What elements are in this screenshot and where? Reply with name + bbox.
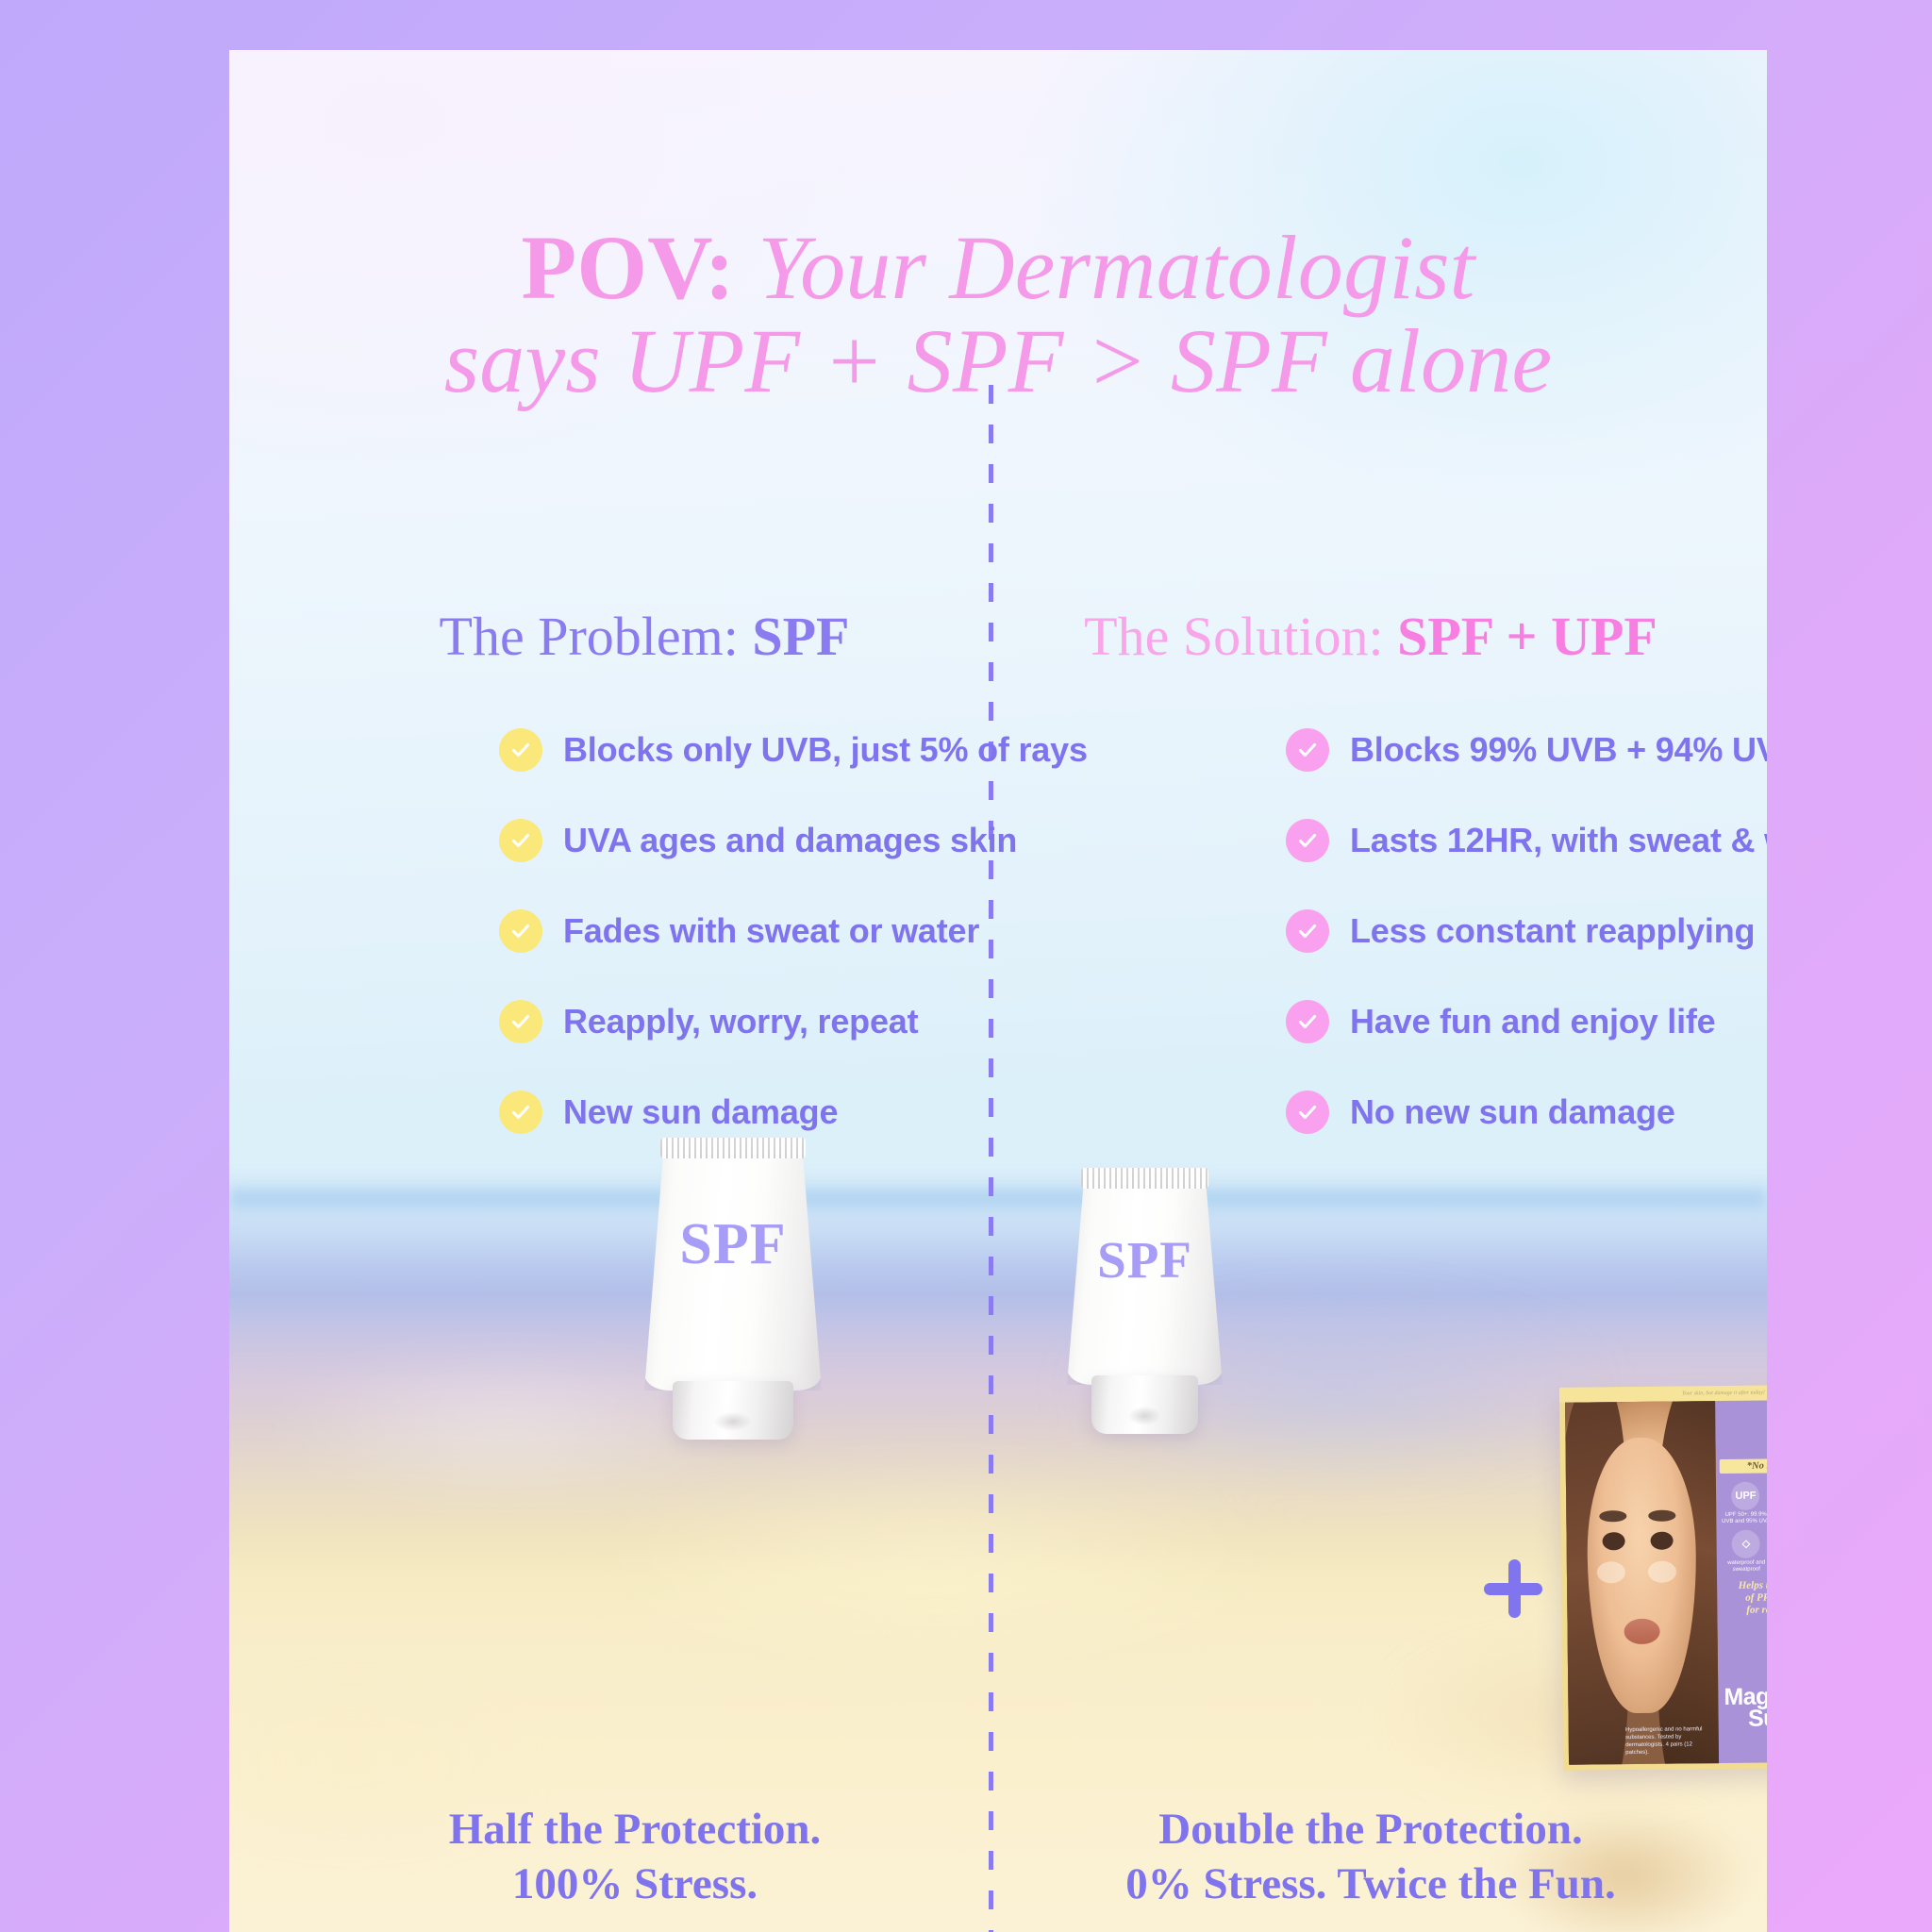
poster-title: POV: Your Dermatologist says UPF + SPF >…: [229, 222, 1767, 408]
sunscreen-tube-left: SPF: [644, 1128, 822, 1440]
list-item-label: Fades with sweat or water: [563, 911, 979, 951]
list-item: Reapply, worry, repeat: [499, 995, 1088, 1048]
no-reapplication-ribbon: *No reapplication needed: [1720, 1457, 1767, 1474]
right-tagline-line-1: Double the Protection.: [1012, 1803, 1729, 1857]
check-icon: [1286, 819, 1329, 862]
brand-logo-line-2: HOT: [1719, 1425, 1767, 1455]
upf-sun-icon: UPF: [1731, 1482, 1759, 1510]
solution-list: Blocks 99% UVB + 94% UVA Lasts 12HR, wit…: [1286, 724, 1767, 1176]
claim-line-3: for radiant, youthful skin: [1721, 1603, 1767, 1617]
list-item: Blocks only UVB, just 5% of rays: [499, 724, 1088, 776]
list-item-label: Blocks only UVB, just 5% of rays: [563, 730, 1088, 770]
list-item: UVA ages and damages skin: [499, 814, 1088, 867]
problem-list: Blocks only UVB, just 5% of rays UVA age…: [499, 724, 1088, 1176]
left-tagline-line-1: Half the Protection.: [286, 1803, 984, 1857]
waterdrop-icon: ◇: [1732, 1529, 1760, 1557]
list-item-label: No new sun damage: [1350, 1092, 1675, 1132]
model-eyebrow-left: [1599, 1510, 1626, 1522]
right-tagline: Double the Protection. 0% Stress. Twice …: [1012, 1803, 1729, 1911]
tube-label: SPF: [1067, 1230, 1223, 1290]
list-item-label: Blocks 99% UVB + 94% UVA: [1350, 730, 1767, 770]
sun-patch-right: [1648, 1560, 1676, 1582]
list-item-label: UVA ages and damages skin: [563, 821, 1017, 860]
title-line-1: POV: Your Dermatologist: [229, 222, 1767, 315]
product-name-line-2: Sun Patches: [1718, 1707, 1767, 1732]
claim-line-2: of PREMATURE AGING: [1721, 1591, 1767, 1605]
box-fineprint: Hypoallergenic and no harmful substances…: [1625, 1725, 1713, 1757]
check-icon: [499, 728, 542, 772]
ocean-horizon-band: [229, 1182, 1767, 1214]
right-column-heading: The Solution: SPF + UPF: [1022, 605, 1720, 668]
list-item-label: Reapply, worry, repeat: [563, 1002, 918, 1041]
title-pov-lead: POV:: [521, 217, 735, 318]
title-line-2: says UPF + SPF > SPF alone: [229, 315, 1767, 408]
tube-crimp: [660, 1138, 806, 1158]
feature-badge: ◇ waterproof and sweatproof: [1720, 1529, 1767, 1574]
tube-crimp: [1081, 1168, 1208, 1189]
check-icon: [1286, 728, 1329, 772]
list-item: No new sun damage: [1286, 1086, 1767, 1139]
brand-logo-line-1: legally: [1719, 1405, 1767, 1427]
tube-cap: [1091, 1375, 1197, 1434]
check-icon: [499, 1091, 542, 1134]
left-column-heading: The Problem: SPF: [314, 605, 974, 668]
sunscreen-tube-right: SPF: [1067, 1158, 1223, 1434]
right-tagline-line-2: 0% Stress. Twice the Fun.: [1012, 1857, 1729, 1911]
box-info-panel: legally HOT *No reapplication needed UPF…: [1715, 1399, 1767, 1763]
box-claim: Helps reduce the appearance of PREMATURE…: [1721, 1578, 1767, 1617]
model-photo: [1565, 1401, 1719, 1765]
feature-caption: UPF 50+: 99.9% UVB and 95% UVA: [1720, 1512, 1767, 1526]
left-tagline-line-2: 100% Stress.: [286, 1857, 984, 1911]
feature-caption: waterproof and sweatproof: [1721, 1559, 1767, 1574]
model-eyebrow-right: [1649, 1510, 1676, 1522]
box-front-panel: legally HOT *No reapplication needed UPF…: [1565, 1399, 1767, 1765]
sun-patches-product-box: Your skin, but damage it after today! le…: [1559, 1384, 1767, 1771]
left-heading-prefix: The Problem:: [440, 606, 753, 667]
check-icon: [1286, 1000, 1329, 1043]
list-item: Have fun and enjoy life: [1286, 995, 1767, 1048]
poster-card: POV: Your Dermatologist says UPF + SPF >…: [229, 50, 1767, 1932]
tube-cap: [673, 1381, 793, 1440]
check-icon: [499, 819, 542, 862]
right-heading-emphasis: SPF + UPF: [1397, 606, 1657, 667]
list-item: Lasts 12HR, with sweat & water: [1286, 814, 1767, 867]
claim-line-1: Helps reduce the appearance: [1721, 1578, 1767, 1592]
list-item-label: Less constant reapplying: [1350, 911, 1755, 951]
list-item: Less constant reapplying: [1286, 905, 1767, 958]
sun-patch-left: [1597, 1561, 1625, 1583]
feature-badge: UPF UPF 50+: 99.9% UVB and 95% UVA: [1720, 1482, 1767, 1526]
list-item-label: New sun damage: [563, 1092, 838, 1132]
right-heading-prefix: The Solution:: [1084, 606, 1397, 667]
check-icon: [1286, 1091, 1329, 1134]
list-item: Blocks 99% UVB + 94% UVA: [1286, 724, 1767, 776]
check-icon: [499, 909, 542, 953]
list-item-label: Lasts 12HR, with sweat & water: [1350, 821, 1767, 860]
feature-badge-grid: UPF UPF 50+: 99.9% UVB and 95% UVA 12h *…: [1720, 1480, 1767, 1574]
product-name: Magic Invisible Sun Patches: [1718, 1685, 1767, 1731]
tube-label: SPF: [644, 1211, 822, 1278]
check-icon: [499, 1000, 542, 1043]
check-icon: [1286, 909, 1329, 953]
plus-icon: [1484, 1559, 1542, 1618]
title-line-1-rest: Your Dermatologist: [735, 217, 1474, 318]
left-tagline: Half the Protection. 100% Stress.: [286, 1803, 984, 1911]
left-heading-emphasis: SPF: [752, 606, 849, 667]
list-item-label: Have fun and enjoy life: [1350, 1002, 1715, 1041]
list-item: Fades with sweat or water: [499, 905, 1088, 958]
